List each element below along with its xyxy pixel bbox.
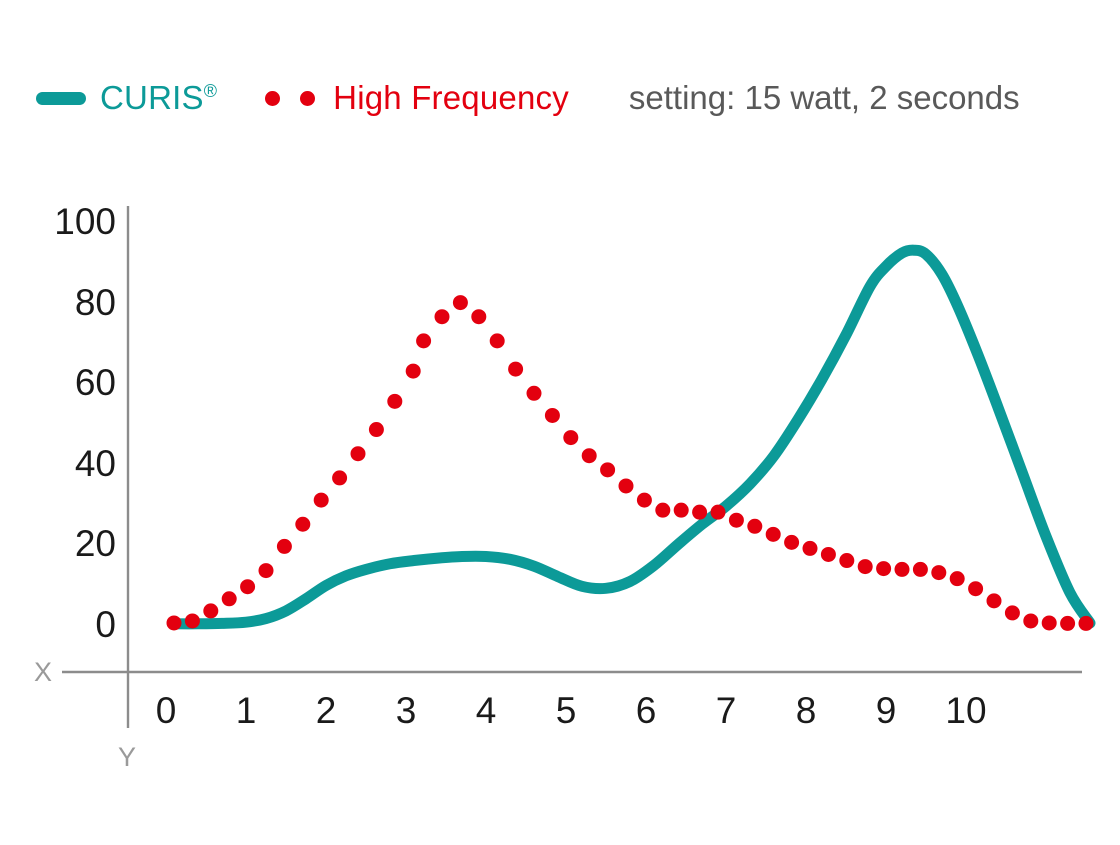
- x-tick-label: 5: [556, 690, 577, 732]
- x-tick-label: 1: [236, 690, 257, 732]
- x-tick-label: 2: [316, 690, 337, 732]
- x-tick-label: 9: [876, 690, 897, 732]
- x-tick-label: 8: [796, 690, 817, 732]
- x-tick-label: 4: [476, 690, 497, 732]
- x-tick-label: 0: [156, 690, 177, 732]
- x-tick-label: 10: [945, 690, 986, 732]
- x-tick-label: 6: [636, 690, 657, 732]
- x-axis-tick-labels: 012345678910: [0, 0, 1120, 840]
- x-axis-name-label: X: [34, 657, 52, 688]
- x-tick-label: 7: [716, 690, 737, 732]
- x-tick-label: 3: [396, 690, 417, 732]
- plot-area: 020406080100 012345678910 X Y: [0, 0, 1120, 840]
- y-axis-name-label: Y: [118, 742, 136, 773]
- chart-container: CURIS® High Frequency setting: 15 watt, …: [0, 0, 1120, 840]
